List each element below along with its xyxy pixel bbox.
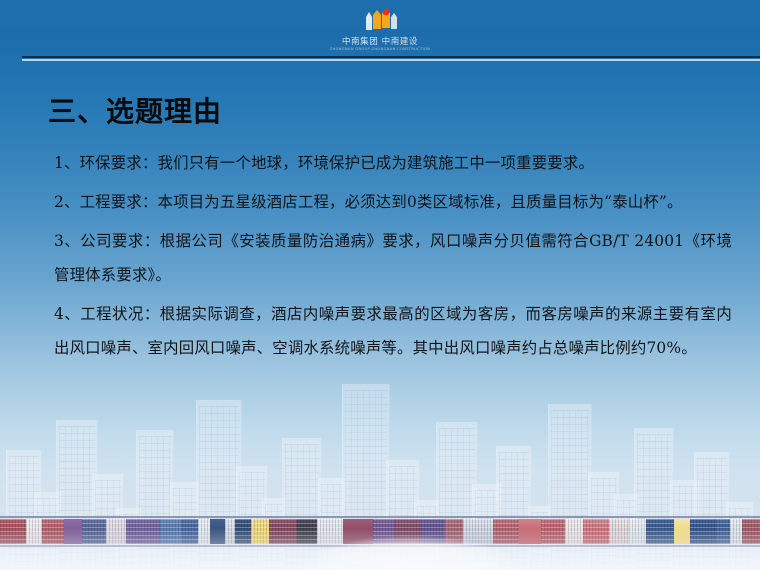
filmstrip-cell <box>182 519 198 544</box>
paragraph-list: 1、环保要求：我们只有一个地球，环境保护已成为建筑施工中一项重要要求。 2、工程… <box>0 146 760 365</box>
filmstrip-cell <box>297 519 317 544</box>
slide-content: 三、选题理由 1、环保要求：我们只有一个地球，环境保护已成为建筑施工中一项重要要… <box>0 92 760 370</box>
page-title: 三、选题理由 <box>48 92 760 132</box>
filmstrip-cell <box>0 519 26 544</box>
filmstrip-cell <box>126 519 160 544</box>
filmstrip-cell <box>690 519 716 544</box>
filmstrip-cell <box>269 519 297 544</box>
strip-rule-top <box>0 516 760 518</box>
filmstrip-cell <box>519 519 541 544</box>
filmstrip-cell <box>646 519 674 544</box>
filmstrip-cell <box>565 519 583 544</box>
slide-canvas: 中南集团 中南建设 ZHONGNAN GROUP ZHONGNAN CONSTR… <box>0 0 760 570</box>
header-divider <box>22 56 760 62</box>
logo-wordmark: 中南集团 中南建设 <box>0 35 760 47</box>
filmstrip-cell <box>210 519 224 544</box>
filmstrip-cell <box>493 519 519 544</box>
filmstrip-cell <box>373 519 395 544</box>
filmstrip-cell <box>541 519 565 544</box>
footer-decoration <box>0 500 760 570</box>
filmstrip-cell <box>629 519 645 544</box>
logo-subtext: ZHONGNAN GROUP ZHONGNAN CONSTRUCTION <box>0 47 760 52</box>
filmstrip-cell <box>235 519 251 544</box>
filmstrip-cell <box>198 519 210 544</box>
paragraph-item: 2、工程要求：本项目为五星级酒店工程，必须达到0类区域标准，且质量目标为“泰山杯… <box>54 185 732 219</box>
filmstrip-cell <box>421 519 445 544</box>
filmstrip-cell <box>674 519 690 544</box>
filmstrip-cell <box>64 519 82 544</box>
filmstrip-cell <box>463 519 493 544</box>
filmstrip-cell <box>82 519 106 544</box>
company-logo: 中南集团 中南建设 ZHONGNAN GROUP ZHONGNAN CONSTR… <box>0 8 760 52</box>
filmstrip-cell <box>251 519 269 544</box>
paragraph-item: 1、环保要求：我们只有一个地球，环境保护已成为建筑施工中一项重要要求。 <box>54 146 732 180</box>
zhongnan-group-logo-icon <box>357 8 403 34</box>
filmstrip-cell <box>343 519 373 544</box>
filmstrip-cell <box>160 519 182 544</box>
strip-rule-bottom <box>0 545 760 547</box>
filmstrip-cell <box>583 519 609 544</box>
filmstrip-cell <box>742 519 760 544</box>
paragraph-item: 4、工程状况：根据实际调查，酒店内噪声要求最高的区域为客房，而客房噪声的来源主要… <box>54 297 732 365</box>
filmstrip-cell <box>317 519 343 544</box>
paragraph-item: 3、公司要求：根据公司《安装质量防治通病》要求，风口噪声分贝值需符合GB/T 2… <box>54 224 732 292</box>
filmstrip-cell <box>730 519 742 544</box>
filmstrip-cell <box>445 519 463 544</box>
filmstrip-cell <box>225 519 235 544</box>
city-photo-filmstrip <box>0 519 760 544</box>
filmstrip-cell <box>106 519 126 544</box>
filmstrip-cell <box>716 519 730 544</box>
filmstrip-cell <box>609 519 629 544</box>
slide-header: 中南集团 中南建设 ZHONGNAN GROUP ZHONGNAN CONSTR… <box>0 0 760 58</box>
filmstrip-cell <box>26 519 42 544</box>
header-divider-light <box>22 59 760 61</box>
header-divider-dark <box>22 56 760 58</box>
filmstrip-cell <box>42 519 64 544</box>
filmstrip-cell <box>395 519 421 544</box>
